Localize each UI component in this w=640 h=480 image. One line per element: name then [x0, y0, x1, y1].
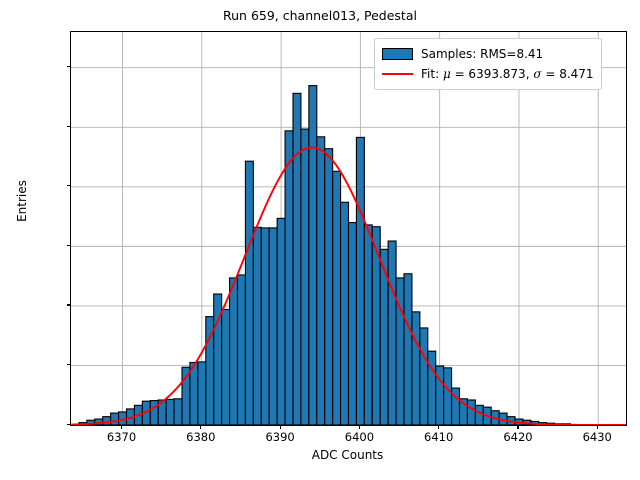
x-tick-label: 6390: [265, 430, 294, 444]
plot-canvas: [71, 32, 626, 425]
x-tick-label: 6410: [424, 430, 453, 444]
x-tick-label: 6370: [107, 430, 136, 444]
chart-figure: Run 659, channel013, Pedestal 0100200300…: [0, 0, 640, 480]
x-tick-label: 6420: [503, 430, 532, 444]
chart-title: Run 659, channel013, Pedestal: [0, 8, 640, 23]
x-axis-label: ADC Counts: [70, 448, 625, 462]
x-tick-label: 6380: [186, 430, 215, 444]
legend-line-icon: [382, 68, 413, 80]
legend-label-samples: Samples: RMS=8.41: [421, 47, 543, 61]
legend-item-fit: Fit: μ = 6393.873, σ = 8.471: [382, 64, 594, 84]
legend-item-samples: Samples: RMS=8.41: [382, 44, 594, 64]
histogram-bars: [79, 86, 571, 425]
x-tick-label: 6430: [583, 430, 612, 444]
y-axis-label: Entries: [15, 101, 29, 301]
chart-legend: Samples: RMS=8.41 Fit: μ = 6393.873, σ =…: [374, 38, 602, 90]
plot-area: [70, 31, 627, 426]
legend-patch-icon: [382, 48, 413, 60]
legend-label-fit: Fit: μ = 6393.873, σ = 8.471: [421, 67, 594, 81]
x-tick-label: 6400: [345, 430, 374, 444]
